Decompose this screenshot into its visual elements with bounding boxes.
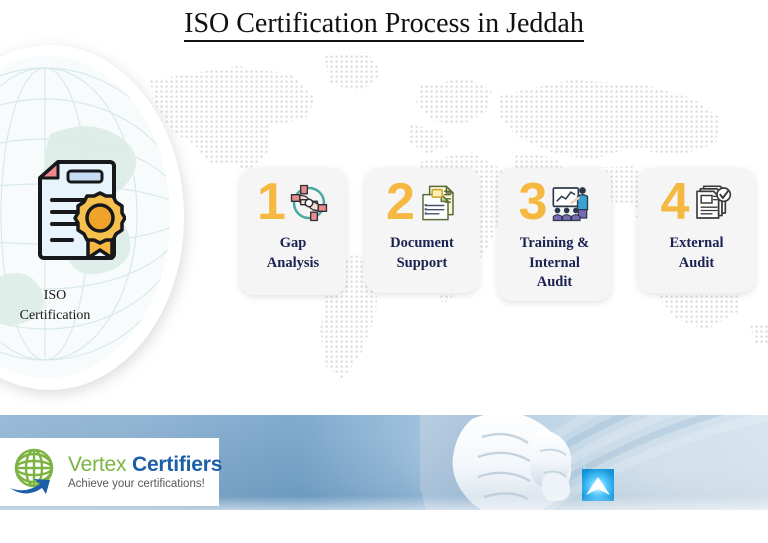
step-card-2-label-line1: Document xyxy=(371,234,473,254)
step-card-3-label-line2: Internal xyxy=(504,254,605,274)
documents-checkmark-icon xyxy=(692,183,732,223)
step-card-4-number: 4 xyxy=(661,181,688,224)
step-card-2-top: 2 xyxy=(365,168,479,230)
training-presentation-icon xyxy=(550,183,590,223)
step-card-3[interactable]: 3 xyxy=(498,168,611,301)
step-card-3-label: Training & Internal Audit xyxy=(498,230,611,301)
document-file-icon xyxy=(418,183,458,223)
globe-wireframe-icon xyxy=(0,64,170,364)
step-card-1[interactable]: 1 Gap Analysis xyxy=(240,168,346,295)
step-card-4-label: External Audit xyxy=(638,230,755,283)
step-card-4[interactable]: 4 External Au xyxy=(638,168,755,293)
logo-name-part2: Certifiers xyxy=(132,453,222,476)
certificate-award-icon xyxy=(30,158,126,268)
page-title: ISO Certification Process in Jeddah xyxy=(0,8,768,42)
globe-arrow-logo-icon xyxy=(8,446,64,498)
step-card-1-number: 1 xyxy=(257,181,284,224)
poster-canvas: ISO Certification Process in Jeddah xyxy=(0,0,768,543)
step-card-3-number: 3 xyxy=(519,181,546,224)
step-card-3-label-line1: Training & xyxy=(504,234,605,254)
step-card-4-label-line2: Audit xyxy=(644,254,749,274)
logo-text-block: Vertex Certifiers Achieve your certifica… xyxy=(68,454,222,490)
logo-name: Vertex Certifiers xyxy=(68,454,222,476)
hero-label-line2: Certification xyxy=(0,306,150,326)
step-card-1-label-line1: Gap xyxy=(246,234,340,254)
hero-label: ISO Certification xyxy=(0,286,150,327)
hero-label-line1: ISO xyxy=(0,286,150,306)
step-card-1-label-line2: Analysis xyxy=(246,254,340,274)
page-title-text: ISO Certification Process in Jeddah xyxy=(184,8,584,42)
step-card-4-top: 4 xyxy=(638,168,755,230)
teamwork-handshake-icon xyxy=(289,183,329,223)
logo-name-part1: Vertex xyxy=(68,453,126,476)
step-card-2-number: 2 xyxy=(386,181,413,224)
step-card-2-label: Document Support xyxy=(365,230,479,283)
step-card-2[interactable]: 2 xyxy=(365,168,479,293)
step-card-4-label-line1: External xyxy=(644,234,749,254)
step-card-3-top: 3 xyxy=(498,168,611,230)
logo-tagline: Achieve your certifications! xyxy=(68,478,222,490)
step-card-1-label: Gap Analysis xyxy=(240,230,346,283)
iso-certification-hero-circle: ISO Certification xyxy=(0,45,186,393)
step-card-1-top: 1 xyxy=(240,168,346,230)
step-card-2-label-line2: Support xyxy=(371,254,473,274)
hero-circle-outer-ring xyxy=(0,45,184,390)
hero-circle-inner: ISO Certification xyxy=(0,56,170,378)
company-logo[interactable]: Vertex Certifiers Achieve your certifica… xyxy=(0,438,219,506)
step-card-3-label-line3: Audit xyxy=(504,273,605,293)
